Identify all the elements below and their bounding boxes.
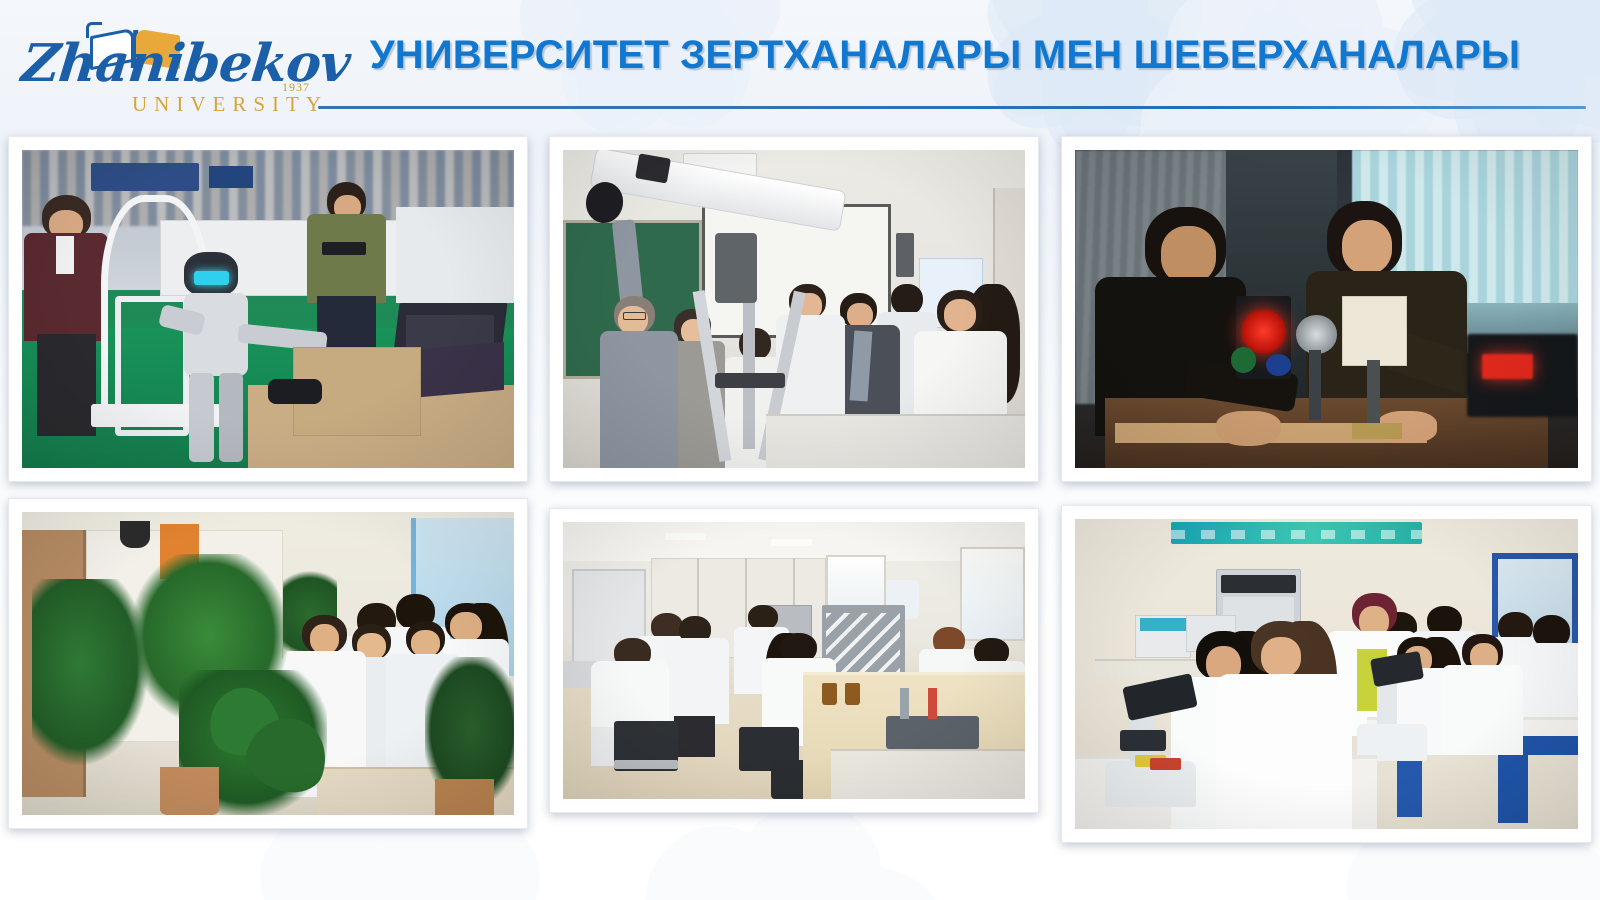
logo-founded-year: 1937: [282, 80, 310, 95]
chemistry-laboratory-photo[interactable]: [549, 508, 1039, 813]
robotics-laboratory-photo[interactable]: [8, 136, 528, 482]
slide-header: Zhanibekov UNIVERSITY 1937 УНИВЕРСИТЕТ З…: [0, 0, 1600, 128]
page-title: УНИВЕРСИТЕТ ЗЕРТХАНАЛАРЫ МЕН ШЕБЕРХАНАЛА…: [300, 33, 1590, 78]
university-logo[interactable]: Zhanibekov UNIVERSITY 1937: [14, 22, 314, 122]
optics-laboratory-photo[interactable]: [1061, 136, 1592, 482]
botany-laboratory-photo[interactable]: [8, 498, 528, 829]
photo-image: [22, 150, 514, 468]
photo-image: [1075, 150, 1578, 468]
logo-wordmark: UNIVERSITY: [132, 92, 328, 117]
photo-image: [563, 150, 1025, 468]
presentation-slide: Zhanibekov UNIVERSITY 1937 УНИВЕРСИТЕТ З…: [0, 0, 1600, 900]
title-underline-rule: [318, 106, 1586, 109]
astronomy-laboratory-photo[interactable]: [549, 136, 1039, 482]
photo-image: [563, 522, 1025, 799]
photo-gallery-grid: [0, 130, 1600, 900]
microbiology-laboratory-photo[interactable]: [1061, 505, 1592, 843]
photo-image: [22, 512, 514, 815]
photo-image: [1075, 519, 1578, 829]
